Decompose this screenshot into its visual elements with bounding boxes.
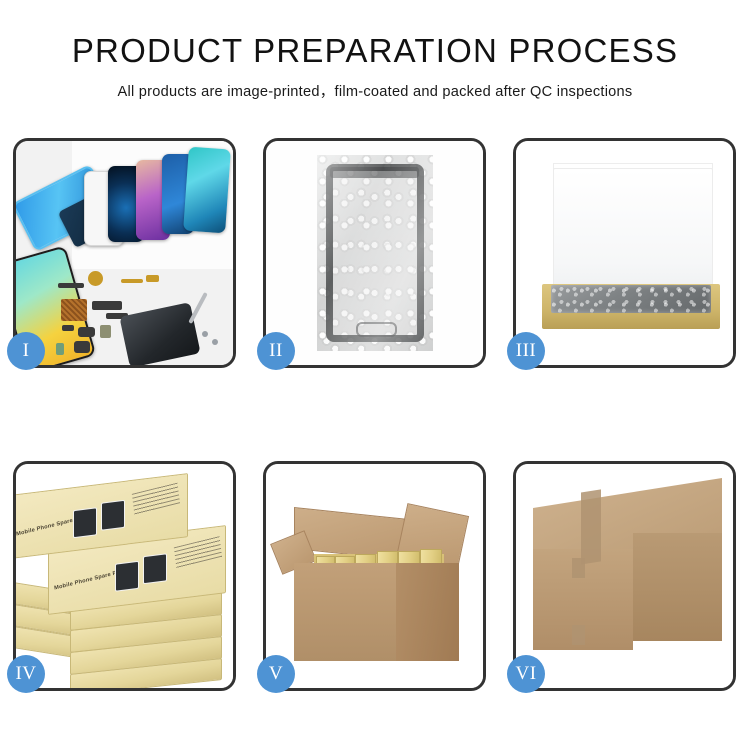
copper-pad-array-icon — [61, 299, 87, 321]
process-step-6: VI — [513, 461, 736, 691]
box-phone-thumbnail — [143, 553, 167, 584]
speaker-part-icon — [88, 271, 103, 286]
process-step-4: Mobile Phone Spare Parts Mobile Phone Sp… — [13, 461, 236, 691]
screw-icon — [202, 331, 208, 337]
small-chip-icon — [62, 325, 74, 331]
antenna-strip-icon — [58, 283, 84, 288]
carton-right-face — [633, 533, 722, 641]
screw-2-icon — [212, 339, 218, 345]
camera-module-icon — [78, 327, 95, 337]
flex-ribbon-icon — [92, 301, 122, 310]
page-subtitle: All products are image-printed，film-coat… — [0, 80, 750, 101]
box-phone-thumbnail — [73, 507, 97, 538]
carton-front-face — [294, 563, 396, 662]
step-2-badge: II — [257, 332, 295, 370]
packing-tape-side — [572, 558, 585, 578]
page-title: PRODUCT PREPARATION PROCESS — [0, 34, 750, 69]
vibrator-motor-icon — [100, 325, 111, 338]
step-5-photo — [266, 464, 483, 688]
spare-parts-cluster — [76, 269, 233, 365]
step-4-photo: Mobile Phone Spare Parts Mobile Phone Sp… — [16, 464, 233, 688]
phone-back-panel-icon — [119, 302, 200, 365]
process-step-3: III — [513, 138, 736, 368]
step-1-badge: I — [7, 332, 45, 370]
sensor-part-icon — [56, 343, 64, 355]
film-sheen — [317, 155, 433, 351]
bubble-wrapped-screen-icon — [317, 155, 433, 351]
step-4-badge: IV — [7, 655, 45, 693]
process-step-2: II — [263, 138, 486, 368]
packing-tape-top — [581, 489, 601, 564]
step-5-badge: V — [257, 655, 295, 693]
packing-tape-side-lower — [572, 625, 585, 645]
step-6-badge: VI — [507, 655, 545, 693]
process-step-grid: I II III — [13, 138, 737, 691]
step-2-photo — [266, 141, 483, 365]
step-3-photo — [516, 141, 733, 365]
step-6-photo — [516, 464, 733, 688]
process-step-5: V — [263, 461, 486, 691]
step-1-photo — [16, 141, 233, 365]
connector-pad-icon — [146, 275, 159, 282]
kraft-box-stack: Mobile Phone Spare Parts Mobile Phone Sp… — [18, 478, 233, 678]
page-header: PRODUCT PREPARATION PROCESS All products… — [0, 0, 750, 101]
step-3-badge: III — [507, 332, 545, 370]
flex-cable-gold-icon — [121, 279, 143, 283]
process-step-1: I — [13, 138, 236, 368]
wrapped-screen-in-box-icon — [551, 285, 712, 313]
teal-gradient-phone-icon — [183, 147, 231, 234]
speaker-box-icon — [74, 341, 90, 353]
box-phone-thumbnail — [115, 561, 139, 592]
box-phone-thumbnail — [101, 500, 125, 531]
